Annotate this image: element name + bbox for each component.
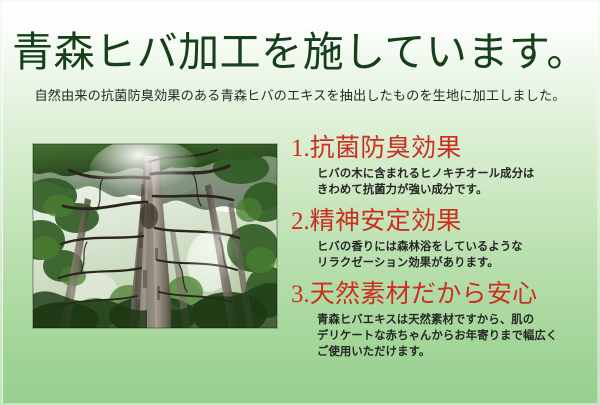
benefit-3-title: 天然素材だから安心: [310, 281, 538, 308]
benefit-1-body: ヒバの木に含まれるヒノキチオール成分は きわめて抗菌力が強い成分です。: [317, 166, 593, 198]
benefit-1-heading: 1.抗菌防臭効果: [291, 134, 593, 163]
benefit-3-heading: 3.天然素材だから安心: [291, 280, 593, 309]
benefit-1-body-line-2: きわめて抗菌力が強い成分です。: [317, 182, 593, 198]
benefit-3-body-line-2: デリケートな赤ちゃんからお年寄りまで幅広く: [317, 328, 593, 344]
benefit-1-body-line-1: ヒバの木に含まれるヒノキチオール成分は: [317, 166, 593, 182]
page-title: 青森ヒバ加工を施しています。: [0, 30, 600, 76]
benefit-2-body: ヒバの香りには森林浴をしているような リラクゼーション効果があります。: [317, 239, 593, 271]
benefit-2-body-line-1: ヒバの香りには森林浴をしているような: [317, 239, 593, 255]
benefit-3-body-line-3: ご使用いただけます。: [317, 344, 593, 360]
benefit-2-number: 2.: [291, 208, 310, 235]
forest-photo-illustration: [33, 144, 277, 328]
page-subtitle: 自然由来の抗菌防臭効果のある青森ヒバのエキスを抽出したものを生地に加工しました。: [0, 88, 600, 104]
benefit-3-body-line-1: 青森ヒバエキスは天然素材ですから、肌の: [317, 312, 593, 328]
hiba-promo-banner: 青森ヒバ加工を施しています。 自然由来の抗菌防臭効果のある青森ヒバのエキスを抽出…: [0, 0, 600, 405]
hiba-forest-photo: [33, 144, 277, 328]
benefit-2-title: 精神安定効果: [310, 208, 462, 235]
benefit-item-1: 1.抗菌防臭効果 ヒバの木に含まれるヒノキチオール成分は きわめて抗菌力が強い成…: [291, 134, 593, 198]
benefit-item-3: 3.天然素材だから安心 青森ヒバエキスは天然素材ですから、肌の デリケートな赤ち…: [291, 280, 593, 360]
benefit-2-body-line-2: リラクゼーション効果があります。: [317, 255, 593, 271]
benefit-1-number: 1.: [291, 135, 310, 162]
benefit-1-title: 抗菌防臭効果: [310, 135, 462, 162]
benefits-list: 1.抗菌防臭効果 ヒバの木に含まれるヒノキチオール成分は きわめて抗菌力が強い成…: [291, 134, 593, 364]
benefit-3-number: 3.: [291, 281, 310, 308]
benefit-item-2: 2.精神安定効果 ヒバの香りには森林浴をしているような リラクゼーション効果があ…: [291, 207, 593, 271]
benefit-2-heading: 2.精神安定効果: [291, 207, 593, 236]
benefit-3-body: 青森ヒバエキスは天然素材ですから、肌の デリケートな赤ちゃんからお年寄りまで幅広…: [317, 312, 593, 360]
